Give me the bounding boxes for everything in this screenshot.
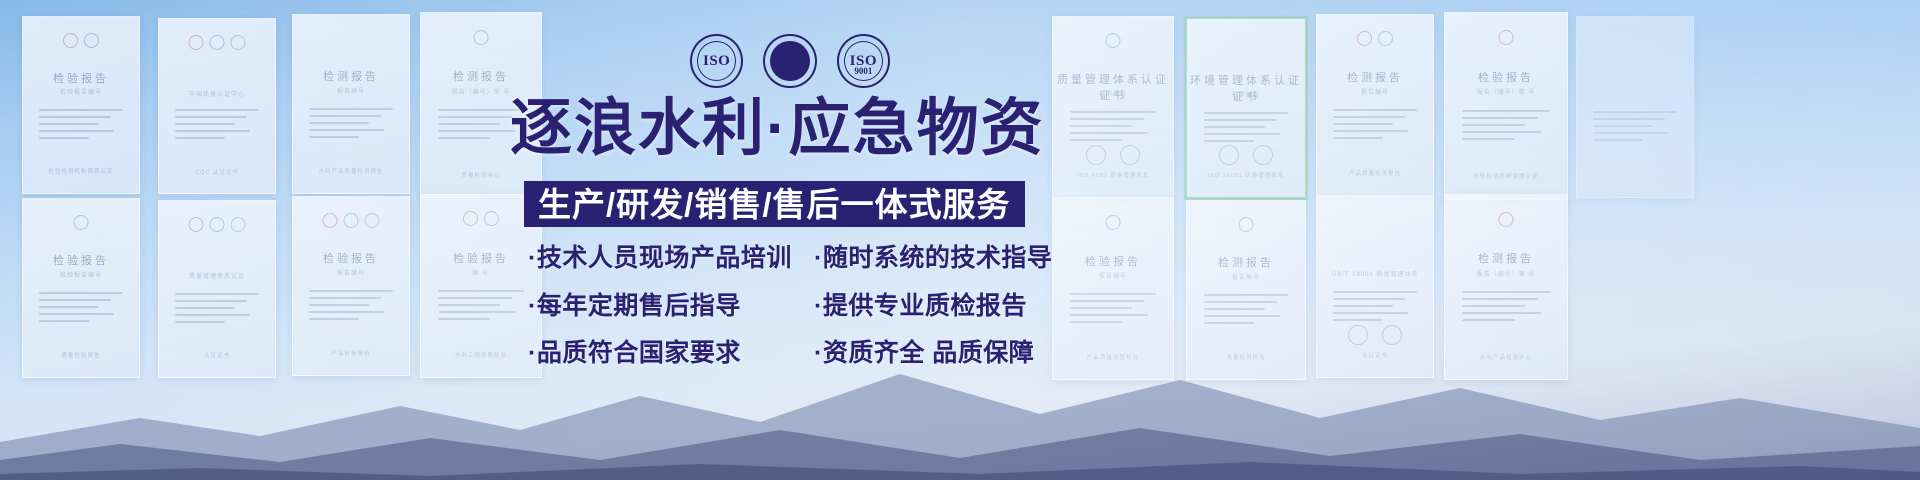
banner-subtitle-text: 生产/研发/销售/售后一体式服务 (538, 188, 1011, 221)
feature-bullet-item: ·技术人员现场产品培训 (528, 245, 806, 273)
banner-content: 逐浪水利·应急物资 生产/研发/销售/售后一体式服务 ·技术人员现场产品培训 ·… (0, 0, 1920, 480)
feature-bullet-list: ·技术人员现场产品培训 ·随时系统的技术指导 ·每年定期售后指导 ·提供专业质检… (528, 245, 1064, 368)
feature-bullet-item: ·随时系统的技术指导 (814, 245, 1064, 273)
banner-subtitle-bar: 生产/研发/销售/售后一体式服务 (524, 181, 1025, 227)
feature-bullet-item: ·资质齐全 品质保障 (814, 340, 1064, 368)
feature-bullet-item: ·提供专业质检报告 (814, 293, 1064, 321)
feature-bullet-item: ·品质符合国家要求 (528, 340, 806, 368)
banner-title: 逐浪水利·应急物资 (510, 98, 1070, 160)
feature-bullet-item: ·每年定期售后指导 (528, 293, 806, 321)
promo-banner: 检验报告 检验报告编号 检验检测机构资质认定 中国质量认证中心 CQC 认证证书… (0, 0, 1920, 480)
